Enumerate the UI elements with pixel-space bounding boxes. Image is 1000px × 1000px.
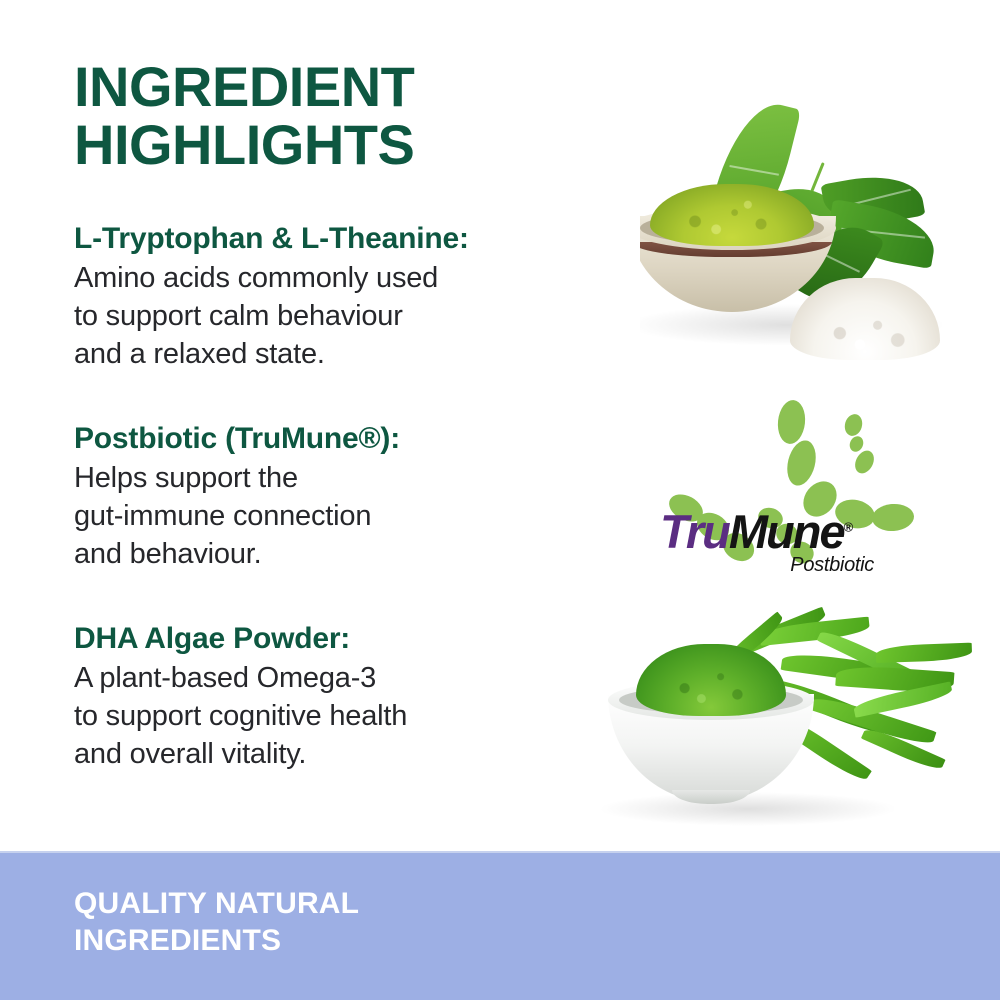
seaweed-strand-icon xyxy=(876,643,973,663)
trumune-logo: TruMune® Postbiotic xyxy=(650,396,880,576)
ceramic-bowl xyxy=(628,190,836,310)
ingredient-list: L-Tryptophan & L-Theanine: Amino acids c… xyxy=(74,222,580,822)
ingredient-item-tryptophan-theanine: L-Tryptophan & L-Theanine: Amino acids c… xyxy=(74,222,580,374)
trumune-wordmark: TruMune® xyxy=(660,508,880,555)
green-tea-powder-mound xyxy=(650,184,814,246)
tea-powder-photo xyxy=(592,96,988,396)
ingredient-name: DHA Algae Powder: xyxy=(74,622,580,657)
microbe-rod-icon xyxy=(776,399,807,446)
ingredient-highlights-page: INGREDIENT HIGHLIGHTS L-Tryptophan & L-T… xyxy=(0,0,1000,1000)
text-overlap-mask xyxy=(580,210,640,400)
registered-mark: ® xyxy=(844,519,854,534)
page-title: INGREDIENT HIGHLIGHTS xyxy=(74,58,634,174)
ingredient-description: Amino acids commonly used to support cal… xyxy=(74,260,580,374)
ingredient-item-postbiotic: Postbiotic (TruMune®): Helps support the… xyxy=(74,422,580,574)
ingredient-item-dha-algae: DHA Algae Powder: A plant-based Omega-3 … xyxy=(74,622,580,774)
banner-headline: QUALITY NATURAL INGREDIENTS xyxy=(74,885,774,959)
logo-word-tru: Tru xyxy=(660,505,729,558)
microbe-rod-icon xyxy=(783,437,820,488)
ingredient-description: Helps support the gut-immune connection … xyxy=(74,460,580,574)
banner-divider xyxy=(0,851,1000,853)
microbe-rod-icon xyxy=(842,412,864,438)
ingredient-name: Postbiotic (TruMune®): xyxy=(74,422,580,457)
white-bowl xyxy=(608,672,814,806)
quality-banner: QUALITY NATURAL INGREDIENTS xyxy=(0,851,1000,1000)
bowl-foot xyxy=(672,790,750,804)
ingredient-name: L-Tryptophan & L-Theanine: xyxy=(74,222,580,257)
ingredient-description: A plant-based Omega-3 to support cogniti… xyxy=(74,660,580,774)
algae-powder-photo xyxy=(598,616,990,832)
trumune-tagline: Postbiotic xyxy=(660,554,880,577)
logo-word-mune: Mune xyxy=(729,505,844,558)
